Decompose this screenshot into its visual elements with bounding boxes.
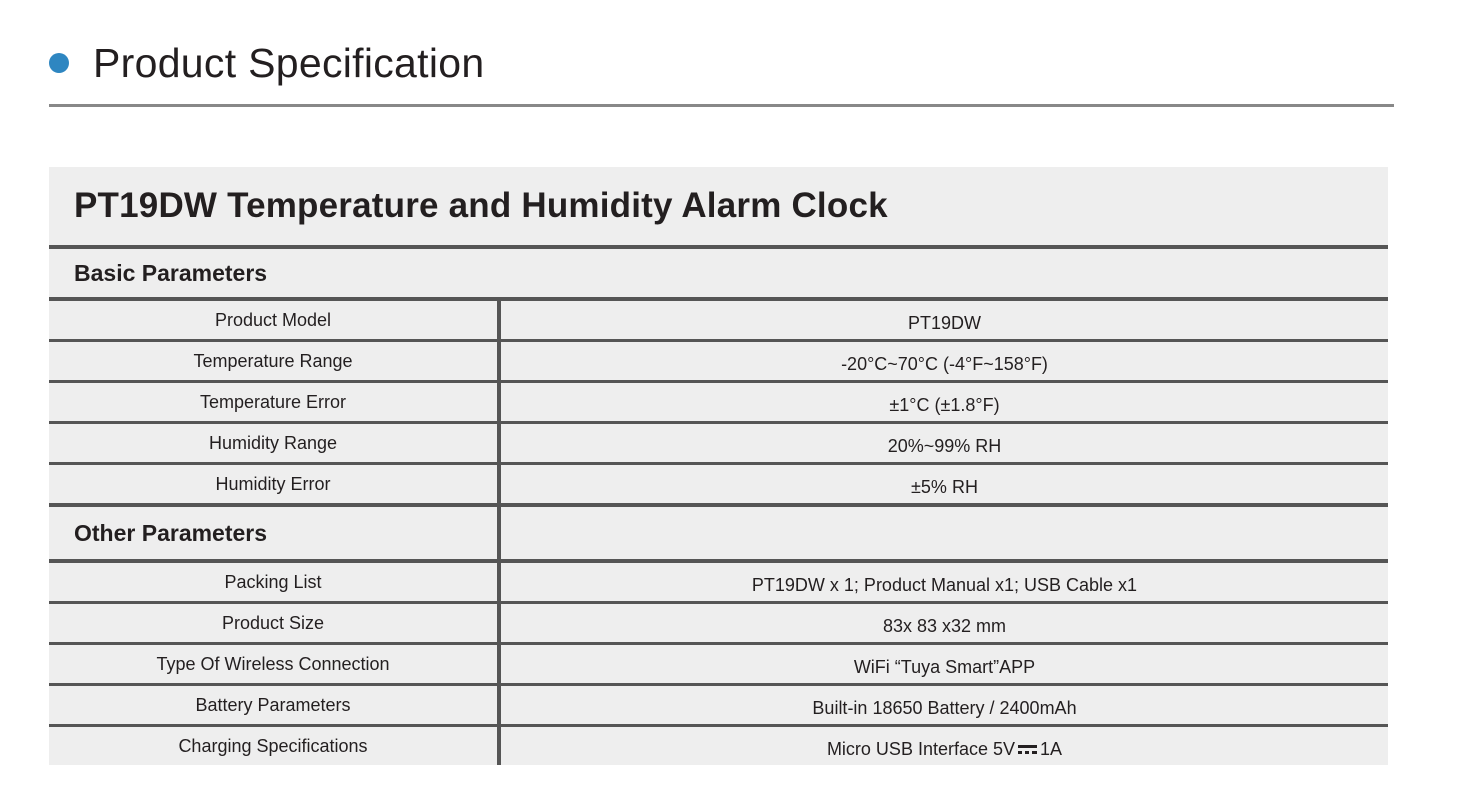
table-row: Temperature Error ±1°C (±1.8°F)	[49, 383, 1388, 421]
row-value-charging: Micro USB Interface 5V1A	[501, 727, 1388, 765]
page-title: Product Specification	[93, 43, 484, 84]
row-label: Packing List	[49, 563, 501, 601]
table-row: Battery Parameters Built-in 18650 Batter…	[49, 686, 1388, 724]
table-title: PT19DW Temperature and Humidity Alarm Cl…	[49, 167, 1388, 245]
section-header-basic: Basic Parameters	[49, 249, 1388, 297]
row-value-prefix: Micro USB Interface 5V	[827, 739, 1015, 760]
row-label: Humidity Range	[49, 424, 501, 462]
row-value-suffix: 1A	[1040, 739, 1062, 760]
row-value: PT19DW	[501, 301, 1388, 339]
header-divider	[49, 104, 1394, 107]
row-value: ±1°C (±1.8°F)	[501, 383, 1388, 421]
row-label: Humidity Error	[49, 465, 501, 503]
row-value: WiFi “Tuya Smart”APP	[501, 645, 1388, 683]
specification-table: PT19DW Temperature and Humidity Alarm Cl…	[49, 167, 1388, 765]
table-row: Packing List PT19DW x 1; Product Manual …	[49, 563, 1388, 601]
heading-row: Product Specification	[49, 30, 1394, 96]
row-label: Temperature Range	[49, 342, 501, 380]
section-header-other-empty-cell	[501, 507, 1388, 559]
row-label: Product Model	[49, 301, 501, 339]
row-value: PT19DW x 1; Product Manual x1; USB Cable…	[501, 563, 1388, 601]
row-value: Built-in 18650 Battery / 2400mAh	[501, 686, 1388, 724]
section-header-other-label: Other Parameters	[49, 507, 501, 559]
table-row: Product Model PT19DW	[49, 301, 1388, 339]
bullet-dot-icon	[49, 53, 69, 73]
table-row: Type Of Wireless Connection WiFi “Tuya S…	[49, 645, 1388, 683]
row-value: 83x 83 x32 mm	[501, 604, 1388, 642]
row-value: 20%~99% RH	[501, 424, 1388, 462]
table-row: Humidity Error ±5% RH	[49, 465, 1388, 503]
table-row: Humidity Range 20%~99% RH	[49, 424, 1388, 462]
row-label: Type Of Wireless Connection	[49, 645, 501, 683]
section-header-other: Other Parameters	[49, 507, 1388, 559]
row-label: Charging Specifications	[49, 727, 501, 765]
row-value: ±5% RH	[501, 465, 1388, 503]
table-row: Product Size 83x 83 x32 mm	[49, 604, 1388, 642]
table-row: Charging Specifications Micro USB Interf…	[49, 727, 1388, 765]
page-header: Product Specification	[49, 30, 1394, 106]
row-value: -20°C~70°C (-4°F~158°F)	[501, 342, 1388, 380]
table-row: Temperature Range -20°C~70°C (-4°F~158°F…	[49, 342, 1388, 380]
row-label: Temperature Error	[49, 383, 501, 421]
dc-power-icon	[1018, 744, 1037, 755]
row-label: Product Size	[49, 604, 501, 642]
row-label: Battery Parameters	[49, 686, 501, 724]
